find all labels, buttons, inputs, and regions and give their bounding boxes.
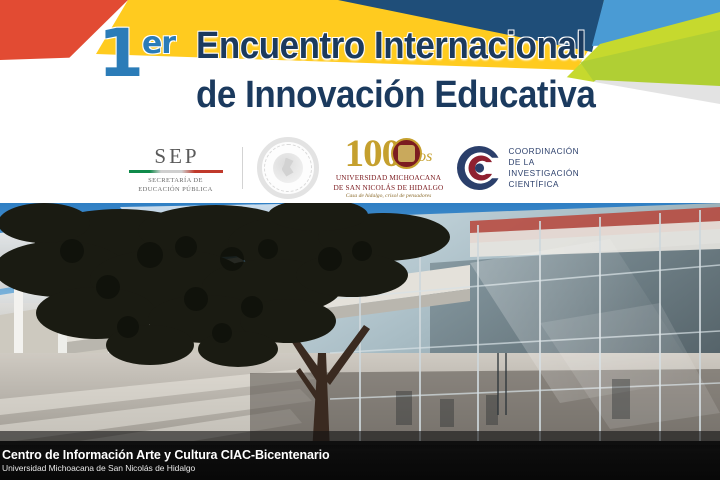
cic-label: COORDINACIÓN DE LA INVESTIGACIÓN CIENTÍF… — [509, 146, 601, 190]
umsnh-shield-icon — [391, 138, 422, 169]
sep-subtitle-line1: SECRETARÍA DE — [148, 176, 203, 185]
ordinal-suffix: er — [142, 26, 175, 61]
title-line-1: Encuentro Internacional — [196, 25, 586, 67]
escudo-nacional-icon — [257, 137, 319, 199]
umsnh-shield-inner — [398, 145, 415, 162]
building-photo: Centro de Información Arte y Cultura CIA… — [0, 203, 720, 480]
logo-escudo-nacional — [253, 137, 323, 199]
logo-strip: SEP SECRETARÍA DE EDUCACIÓN PÚBLICA 100 … — [0, 132, 720, 203]
sep-acronym: SEP — [151, 145, 199, 167]
title-line-2: de Innovación Educativa — [196, 74, 595, 116]
umsnh-motto: Casa de hidalgo, crisol de pensadores — [346, 192, 432, 200]
cic-circle-icon — [455, 144, 503, 192]
caption-subtitle: Universidad Michoacana de San Nicolás de… — [2, 463, 720, 474]
poster-banner: 1er Encuentro Internacional de Innovació… — [0, 0, 720, 480]
sep-tricolor-rule — [129, 170, 223, 173]
escudo-eagle-glyph — [273, 153, 303, 183]
cic-label-line1: COORDINACIÓN — [509, 146, 601, 157]
logo-coordinacion-investigacion-cientifica: COORDINACIÓN DE LA INVESTIGACIÓN CIENTÍF… — [455, 137, 601, 199]
caption-title: Centro de Información Arte y Cultura CIA… — [2, 448, 720, 463]
cic-label-line2: DE LA INVESTIGACIÓN — [509, 157, 601, 179]
building-photo-illustration — [0, 203, 720, 480]
umsnh-centennial-mark: 100 años — [345, 136, 433, 172]
umsnh-name-line2: DE SAN NICOLÁS DE HIDALGO — [334, 183, 444, 192]
logo-umsnh-100-anos: 100 años UNIVERSIDAD MICHOACANA DE SAN N… — [323, 137, 455, 199]
sep-subtitle-line2: EDUCACIÓN PÚBLICA — [138, 185, 213, 194]
ordinal-number: 1 — [98, 15, 142, 92]
poster-header: 1er Encuentro Internacional de Innovació… — [0, 0, 720, 203]
title-block: 1er Encuentro Internacional de Innovació… — [0, 0, 720, 132]
logo-sep: SEP SECRETARÍA DE EDUCACIÓN PÚBLICA — [120, 135, 232, 201]
cic-label-line3: CIENTÍFICA — [509, 179, 601, 190]
ordinal-marker: 1er — [98, 11, 175, 87]
logo-divider — [242, 147, 243, 189]
photo-caption: Centro de Información Arte y Cultura CIA… — [0, 445, 720, 480]
